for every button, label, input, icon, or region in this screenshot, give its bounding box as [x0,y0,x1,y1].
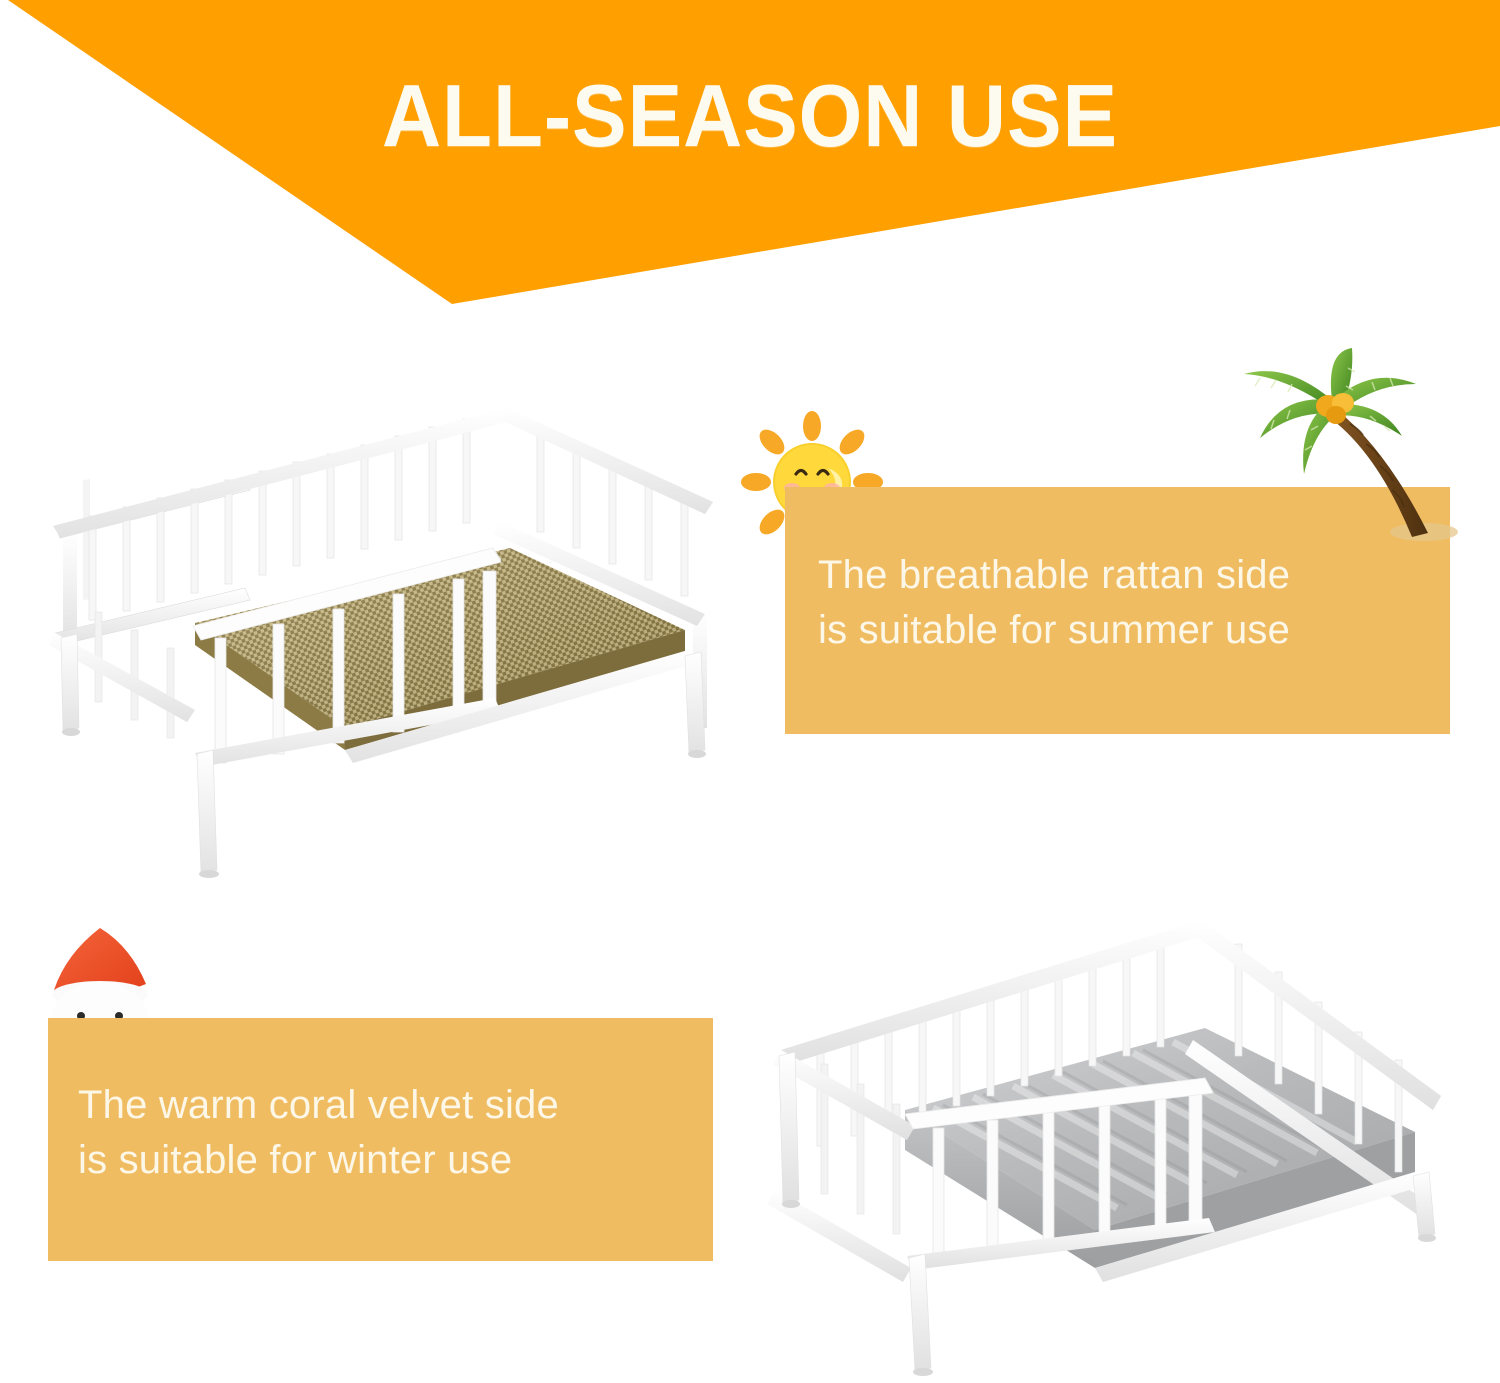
page-title: ALL-SEASON USE [53,70,1448,162]
product-image-winter-velvet-bed [765,900,1500,1383]
infographic-canvas: ALL-SEASON USE [0,0,1500,1383]
product-image-summer-rattan-bed [45,398,745,898]
palm-tree-icon [1232,348,1482,548]
summer-caption-text: The breathable rattan side is suitable f… [818,548,1438,658]
winter-caption-text: The warm coral velvet side is suitable f… [78,1078,698,1188]
